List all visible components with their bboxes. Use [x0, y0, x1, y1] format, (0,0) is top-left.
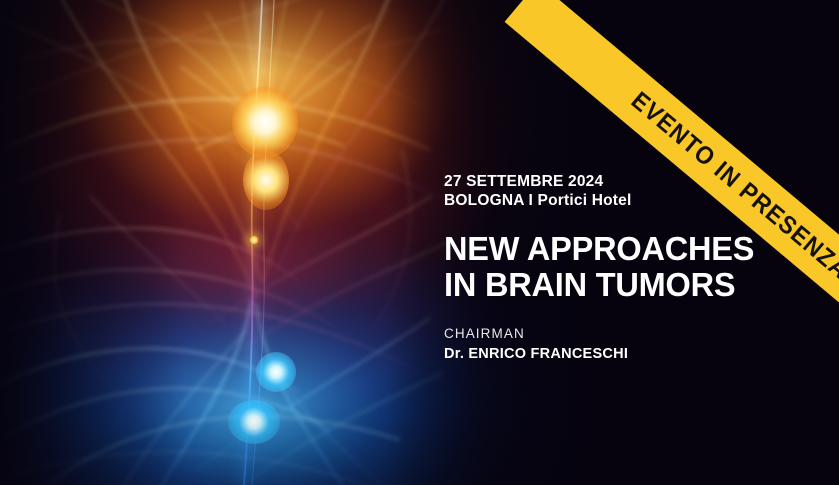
- event-title: NEW APPROACHES IN BRAIN TUMORS: [444, 231, 791, 303]
- event-title-line-2: IN BRAIN TUMORS: [444, 267, 791, 303]
- event-date: 27 SETTEMBRE 2024: [444, 172, 796, 191]
- event-details-block: 27 SETTEMBRE 2024 BOLOGNA I Portici Hote…: [444, 172, 796, 364]
- event-title-line-1: NEW APPROACHES: [444, 231, 791, 267]
- chairman-label: CHAIRMAN: [444, 325, 796, 343]
- event-venue: BOLOGNA I Portici Hotel: [444, 191, 796, 210]
- chairman-block: CHAIRMAN Dr. ENRICO FRANCESCHI: [444, 325, 796, 364]
- event-poster: EVENTO IN PRESENZA 27 SETTEMBRE 2024 BOL…: [0, 0, 839, 485]
- chairman-name: Dr. ENRICO FRANCESCHI: [444, 345, 796, 364]
